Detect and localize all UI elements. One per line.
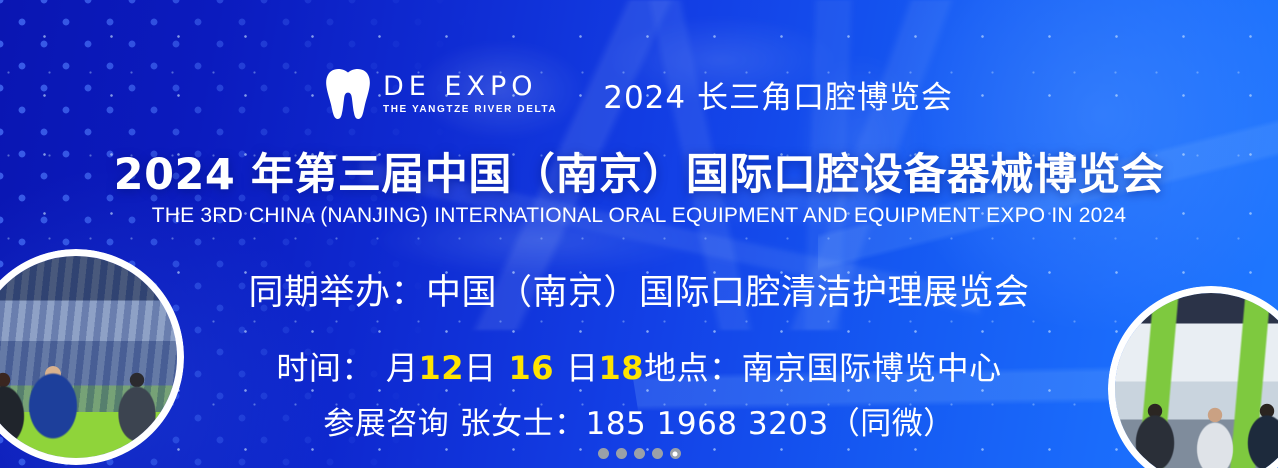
tooth-icon [325,68,371,120]
carousel-dot[interactable] [652,448,663,459]
main-title: 2024 年第三届中国（南京）国际口腔设备器械博览会 [0,140,1278,202]
contact-suffix: （同微） [829,406,955,442]
logo-sub-text: THE YANGTZE RIVER DELTA [383,105,557,115]
logo-text-block: DE EXPO THE YANGTZE RIVER DELTA [383,73,557,115]
day-char-2: 日 [566,349,599,387]
carousel-dot[interactable] [616,448,627,459]
promo-banner[interactable]: DE EXPO THE YANGTZE RIVER DELTA 2024 长三角… [0,0,1278,468]
place-label: 地点： [644,349,742,387]
day-end: 18 [599,349,645,387]
carousel-dot-active[interactable] [670,448,681,459]
time-label: 时间： [276,349,374,387]
carousel-dot[interactable] [598,448,609,459]
concurrent-event-line: 同期举办：中国（南京）国际口腔清洁护理展览会 [0,264,1278,315]
contact-line: 参展咨询 张女士：185 1968 3203（同微） [0,398,1278,443]
expo-name-cn: 2024 长三角口腔博览会 [603,72,953,117]
subtitle-en: THE 3RD CHINA (NANJING) INTERNATIONAL OR… [0,204,1278,228]
day-start: 12 [418,349,464,387]
contact-prefix: 参展咨询 张女士： [323,406,585,442]
logo-main-text: DE EXPO [383,73,557,100]
banner-header-row: DE EXPO THE YANGTZE RIVER DELTA 2024 长三角… [0,58,1278,130]
day-char-1: 日 [464,349,497,387]
carousel-dot[interactable] [634,448,645,459]
month-char: 月 [386,349,419,387]
carousel-dots[interactable] [0,448,1278,459]
date-location-line: 时间：月12日16日18地点：南京国际博览中心 [0,343,1278,389]
place-value: 南京国际博览中心 [742,349,1002,387]
contact-phone[interactable]: 185 1968 3203 [586,406,829,442]
de-expo-logo[interactable]: DE EXPO THE YANGTZE RIVER DELTA [325,68,557,120]
day-mid: 16 [508,349,554,387]
